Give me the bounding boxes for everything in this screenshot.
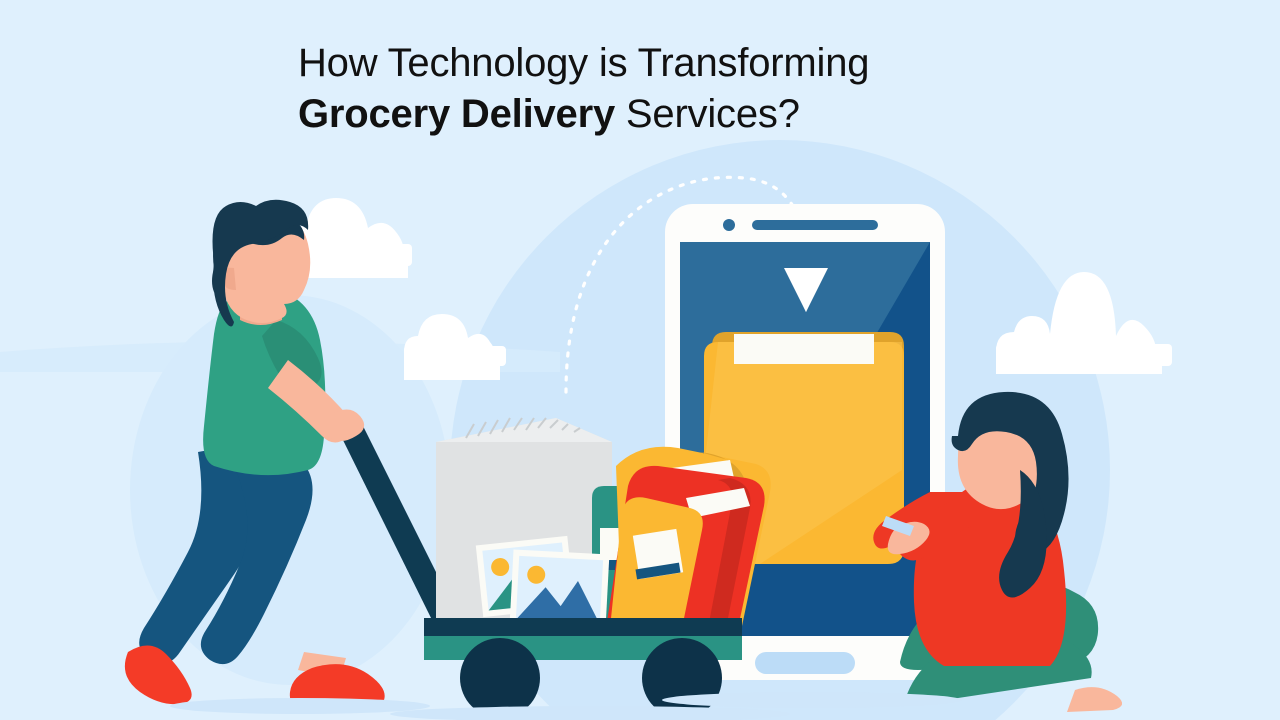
cart-wheel-right	[642, 638, 722, 718]
page-title: How Technology is TransformingGrocery De…	[298, 38, 1058, 140]
page-title-emphasis: Grocery Delivery	[298, 92, 615, 136]
phone-speaker-icon	[752, 220, 878, 230]
page-title-line-2-rest: Services?	[615, 92, 800, 136]
folder-paper	[734, 334, 874, 364]
cart-wheel-left	[460, 638, 540, 718]
ground-shadow	[170, 698, 430, 714]
phone-camera-icon	[723, 219, 735, 231]
phone-home-bar[interactable]	[755, 652, 855, 674]
grocery-bags	[592, 447, 771, 628]
illustration-canvas: How Technology is TransformingGrocery De…	[0, 0, 1280, 720]
ground-shadow-phone	[662, 692, 962, 708]
page-title-line-1: How Technology is Transforming	[298, 41, 869, 85]
